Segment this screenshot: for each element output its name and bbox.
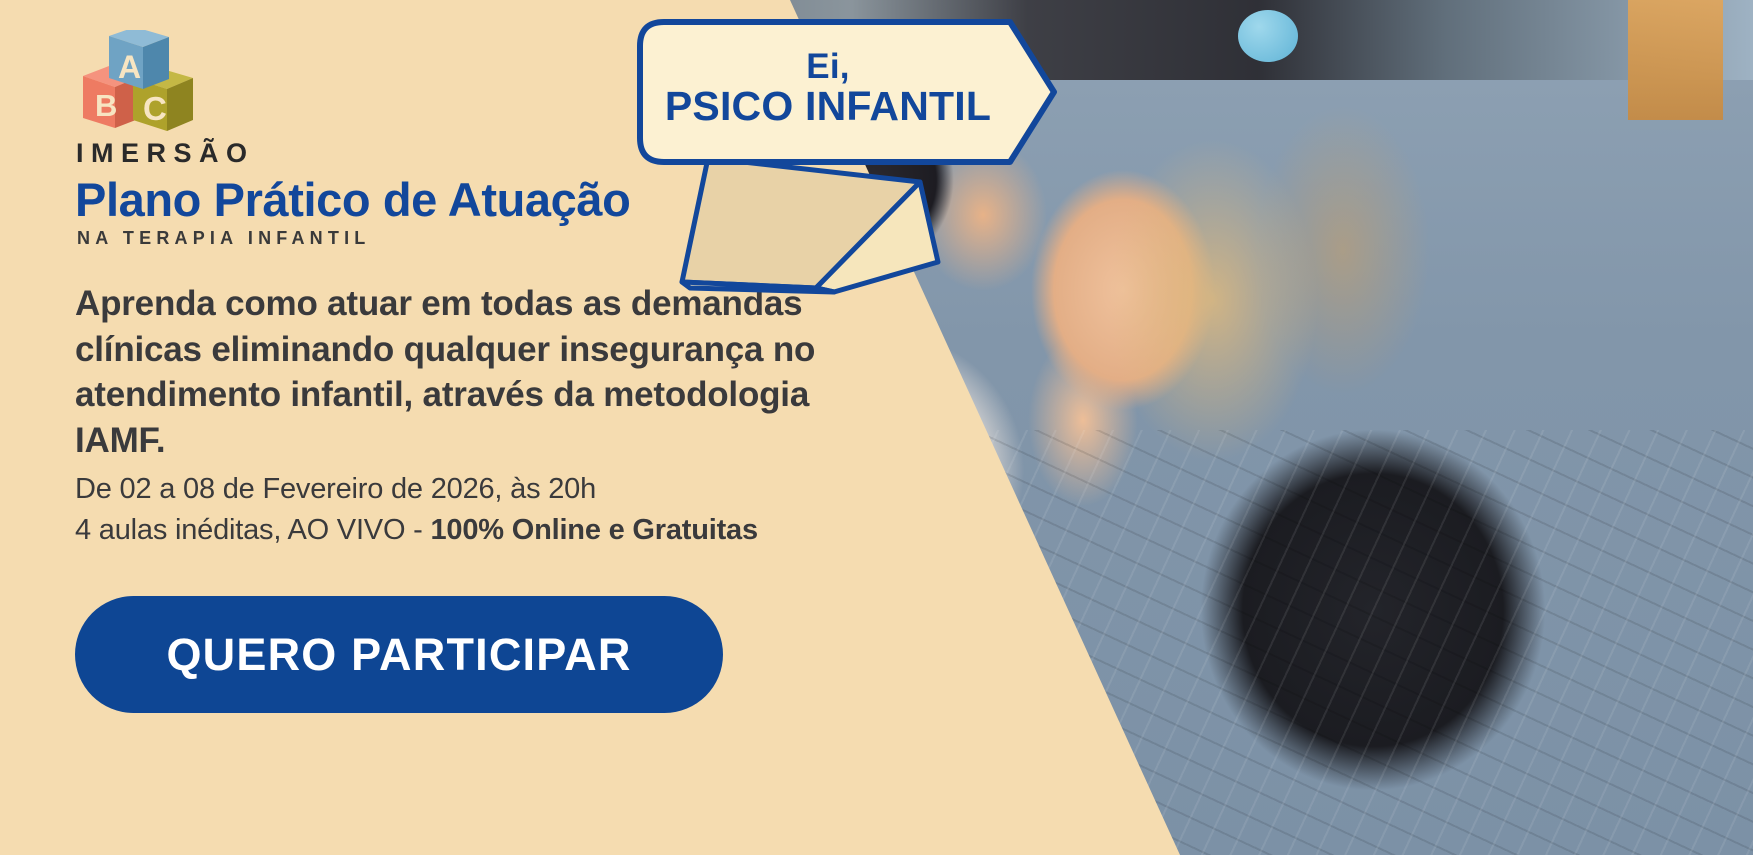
subtitle-label: NA TERAPIA INFANTIL bbox=[77, 228, 370, 249]
speech-bubble-shape bbox=[620, 10, 1140, 310]
quero-participar-button[interactable]: QUERO PARTICIPAR bbox=[75, 596, 723, 713]
svg-text:B: B bbox=[95, 88, 117, 123]
page-title: Plano Prático de Atuação bbox=[75, 172, 630, 227]
wall-orange-accent bbox=[1628, 0, 1723, 120]
block-a-icon: A bbox=[109, 30, 169, 89]
event-format-line: 4 aulas inéditas, AO VIVO - 100% Online … bbox=[75, 512, 955, 548]
svg-text:A: A bbox=[118, 49, 141, 85]
abc-blocks-logo: B C A bbox=[75, 30, 205, 140]
eyebrow-label: IMERSÃO bbox=[76, 138, 255, 169]
event-format-highlight: 100% Online e Gratuitas bbox=[430, 514, 757, 546]
abc-blocks-icon: B C A bbox=[75, 30, 205, 140]
svg-text:C: C bbox=[143, 90, 167, 127]
event-format-prefix: 4 aulas inéditas, AO VIVO - bbox=[75, 514, 430, 546]
banner-root: B C A IMERSÃO Plano Prático de bbox=[0, 0, 1753, 855]
bubble-body bbox=[640, 22, 1054, 162]
event-date-line: De 02 a 08 de Fevereiro de 2026, às 20h bbox=[75, 471, 955, 507]
hair-clip-icon bbox=[1238, 10, 1298, 62]
speech-bubble: Ei, PSICO INFANTIL bbox=[620, 10, 1140, 310]
